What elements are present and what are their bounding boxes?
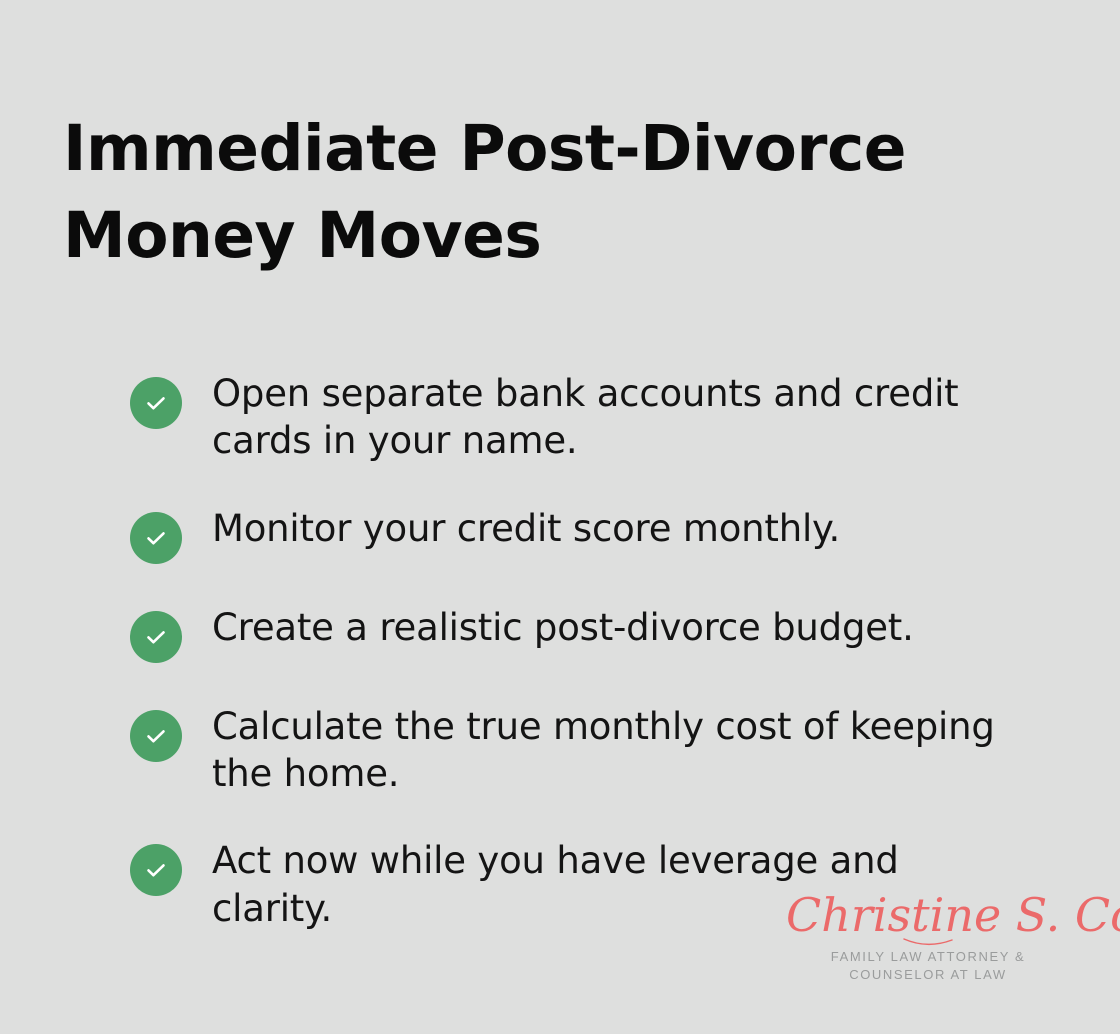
list-item: Open separate bank accounts and credit c… [130, 370, 1050, 465]
list-item: Monitor your credit score monthly. [130, 505, 1050, 564]
check-circle-icon [130, 710, 182, 762]
list-item-label: Calculate the true monthly cost of keepi… [212, 703, 1022, 798]
page-title: Immediate Post-Divorce Money Moves [63, 106, 963, 280]
check-circle-icon [130, 377, 182, 429]
title-block: Immediate Post-Divorce Money Moves [63, 106, 963, 280]
list-item-label: Monitor your credit score monthly. [212, 505, 1022, 552]
slide-canvas: Immediate Post-Divorce Money Moves Open … [0, 0, 1120, 1034]
brand-name: Christine S. Cook [786, 892, 1070, 938]
list-item-label: Create a realistic post-divorce budget. [212, 604, 1022, 651]
logo-swash-icon [786, 934, 1070, 944]
list-item: Calculate the true monthly cost of keepi… [130, 703, 1050, 798]
list-item: Create a realistic post-divorce budget. [130, 604, 1050, 663]
list-item-label: Open separate bank accounts and credit c… [212, 370, 1022, 465]
brand-logo: Christine S. Cook FAMILY LAW ATTORNEY & … [786, 892, 1070, 983]
checklist: Open separate bank accounts and credit c… [130, 370, 1050, 932]
brand-tagline: FAMILY LAW ATTORNEY & COUNSELOR AT LAW [786, 948, 1070, 983]
check-circle-icon [130, 512, 182, 564]
check-circle-icon [130, 611, 182, 663]
check-circle-icon [130, 844, 182, 896]
